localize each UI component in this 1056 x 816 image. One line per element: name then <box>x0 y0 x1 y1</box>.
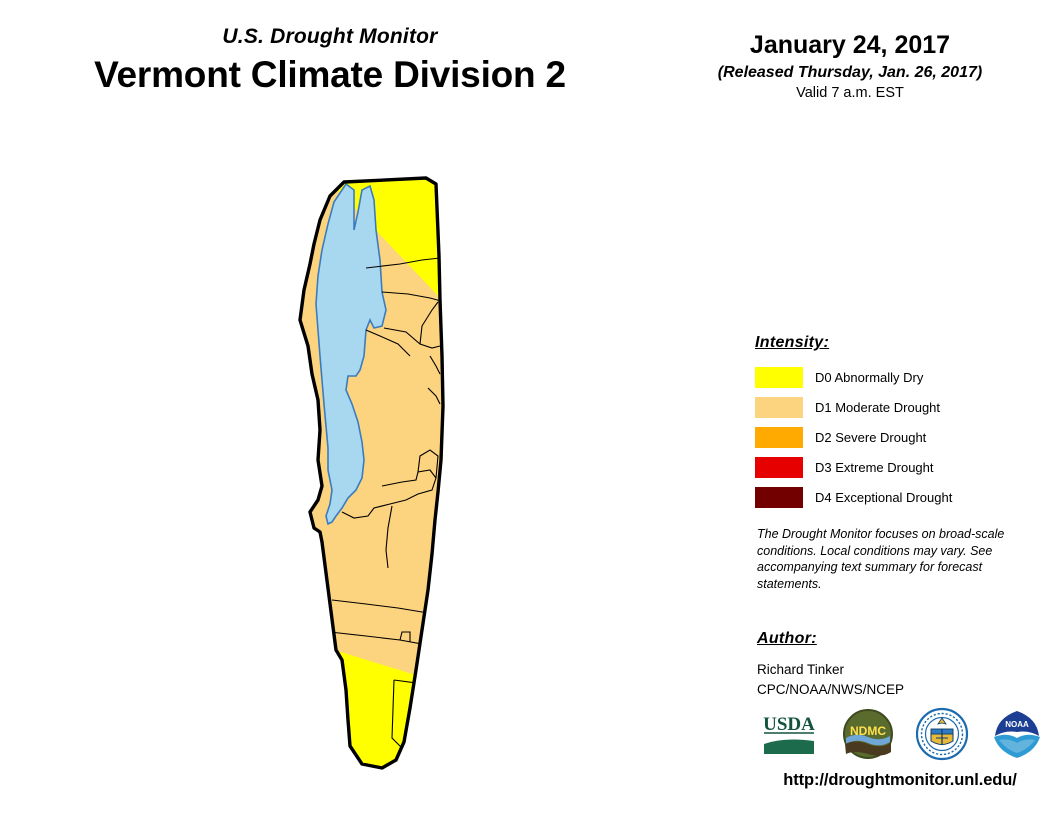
author-affiliation: CPC/NOAA/NWS/NCEP <box>757 680 1037 700</box>
author-block: Author: Richard Tinker CPC/NOAA/NWS/NCEP <box>757 630 1037 699</box>
agency-logos: USDA NDMC NOAA <box>758 703 1043 765</box>
legend-disclaimer: The Drought Monitor focuses on broad-sca… <box>757 526 1019 593</box>
program-title: U.S. Drought Monitor <box>0 26 660 48</box>
site-url[interactable]: http://droughtmonitor.unl.edu/ <box>750 771 1050 790</box>
legend-label-d1: D1 Moderate Drought <box>815 400 940 415</box>
valid-date: January 24, 2017 <box>690 32 1010 60</box>
legend-item-d1: D1 Moderate Drought <box>755 392 1035 422</box>
usda-logo: USDA <box>758 710 820 758</box>
legend-item-d3: D3 Extreme Drought <box>755 452 1035 482</box>
nws-logo <box>915 707 969 761</box>
legend-item-d2: D2 Severe Drought <box>755 422 1035 452</box>
drought-map <box>270 160 520 800</box>
svg-text:NDMC: NDMC <box>850 724 886 738</box>
legend-swatch-d2 <box>755 427 803 448</box>
author-name: Richard Tinker <box>757 660 1037 680</box>
valid-time: Valid 7 a.m. EST <box>690 86 1010 102</box>
release-date: (Released Thursday, Jan. 26, 2017) <box>690 64 1010 82</box>
legend-label-d0: D0 Abnormally Dry <box>815 370 923 385</box>
legend-label-d2: D2 Severe Drought <box>815 430 926 445</box>
legend-swatch-d3 <box>755 457 803 478</box>
header-left: U.S. Drought Monitor Vermont Climate Div… <box>0 26 660 97</box>
legend: Intensity: D0 Abnormally Dry D1 Moderate… <box>755 334 1035 512</box>
legend-swatch-d4 <box>755 487 803 508</box>
svg-text:NOAA: NOAA <box>1005 720 1029 729</box>
legend-swatch-d0 <box>755 367 803 388</box>
legend-label-d3: D3 Extreme Drought <box>815 460 934 475</box>
legend-swatch-d1 <box>755 397 803 418</box>
legend-label-d4: D4 Exceptional Drought <box>815 490 952 505</box>
vermont-division-2-map <box>270 160 520 800</box>
svg-text:USDA: USDA <box>763 714 815 735</box>
author-heading: Author: <box>757 630 1037 648</box>
noaa-logo: NOAA <box>991 708 1043 760</box>
header-right: January 24, 2017 (Released Thursday, Jan… <box>690 32 1010 102</box>
ndmc-logo: NDMC <box>842 708 894 760</box>
legend-item-d0: D0 Abnormally Dry <box>755 362 1035 392</box>
page-title: Vermont Climate Division 2 <box>0 54 660 97</box>
map-region-d0-south <box>328 648 440 782</box>
legend-item-d4: D4 Exceptional Drought <box>755 482 1035 512</box>
legend-title: Intensity: <box>755 334 1035 352</box>
